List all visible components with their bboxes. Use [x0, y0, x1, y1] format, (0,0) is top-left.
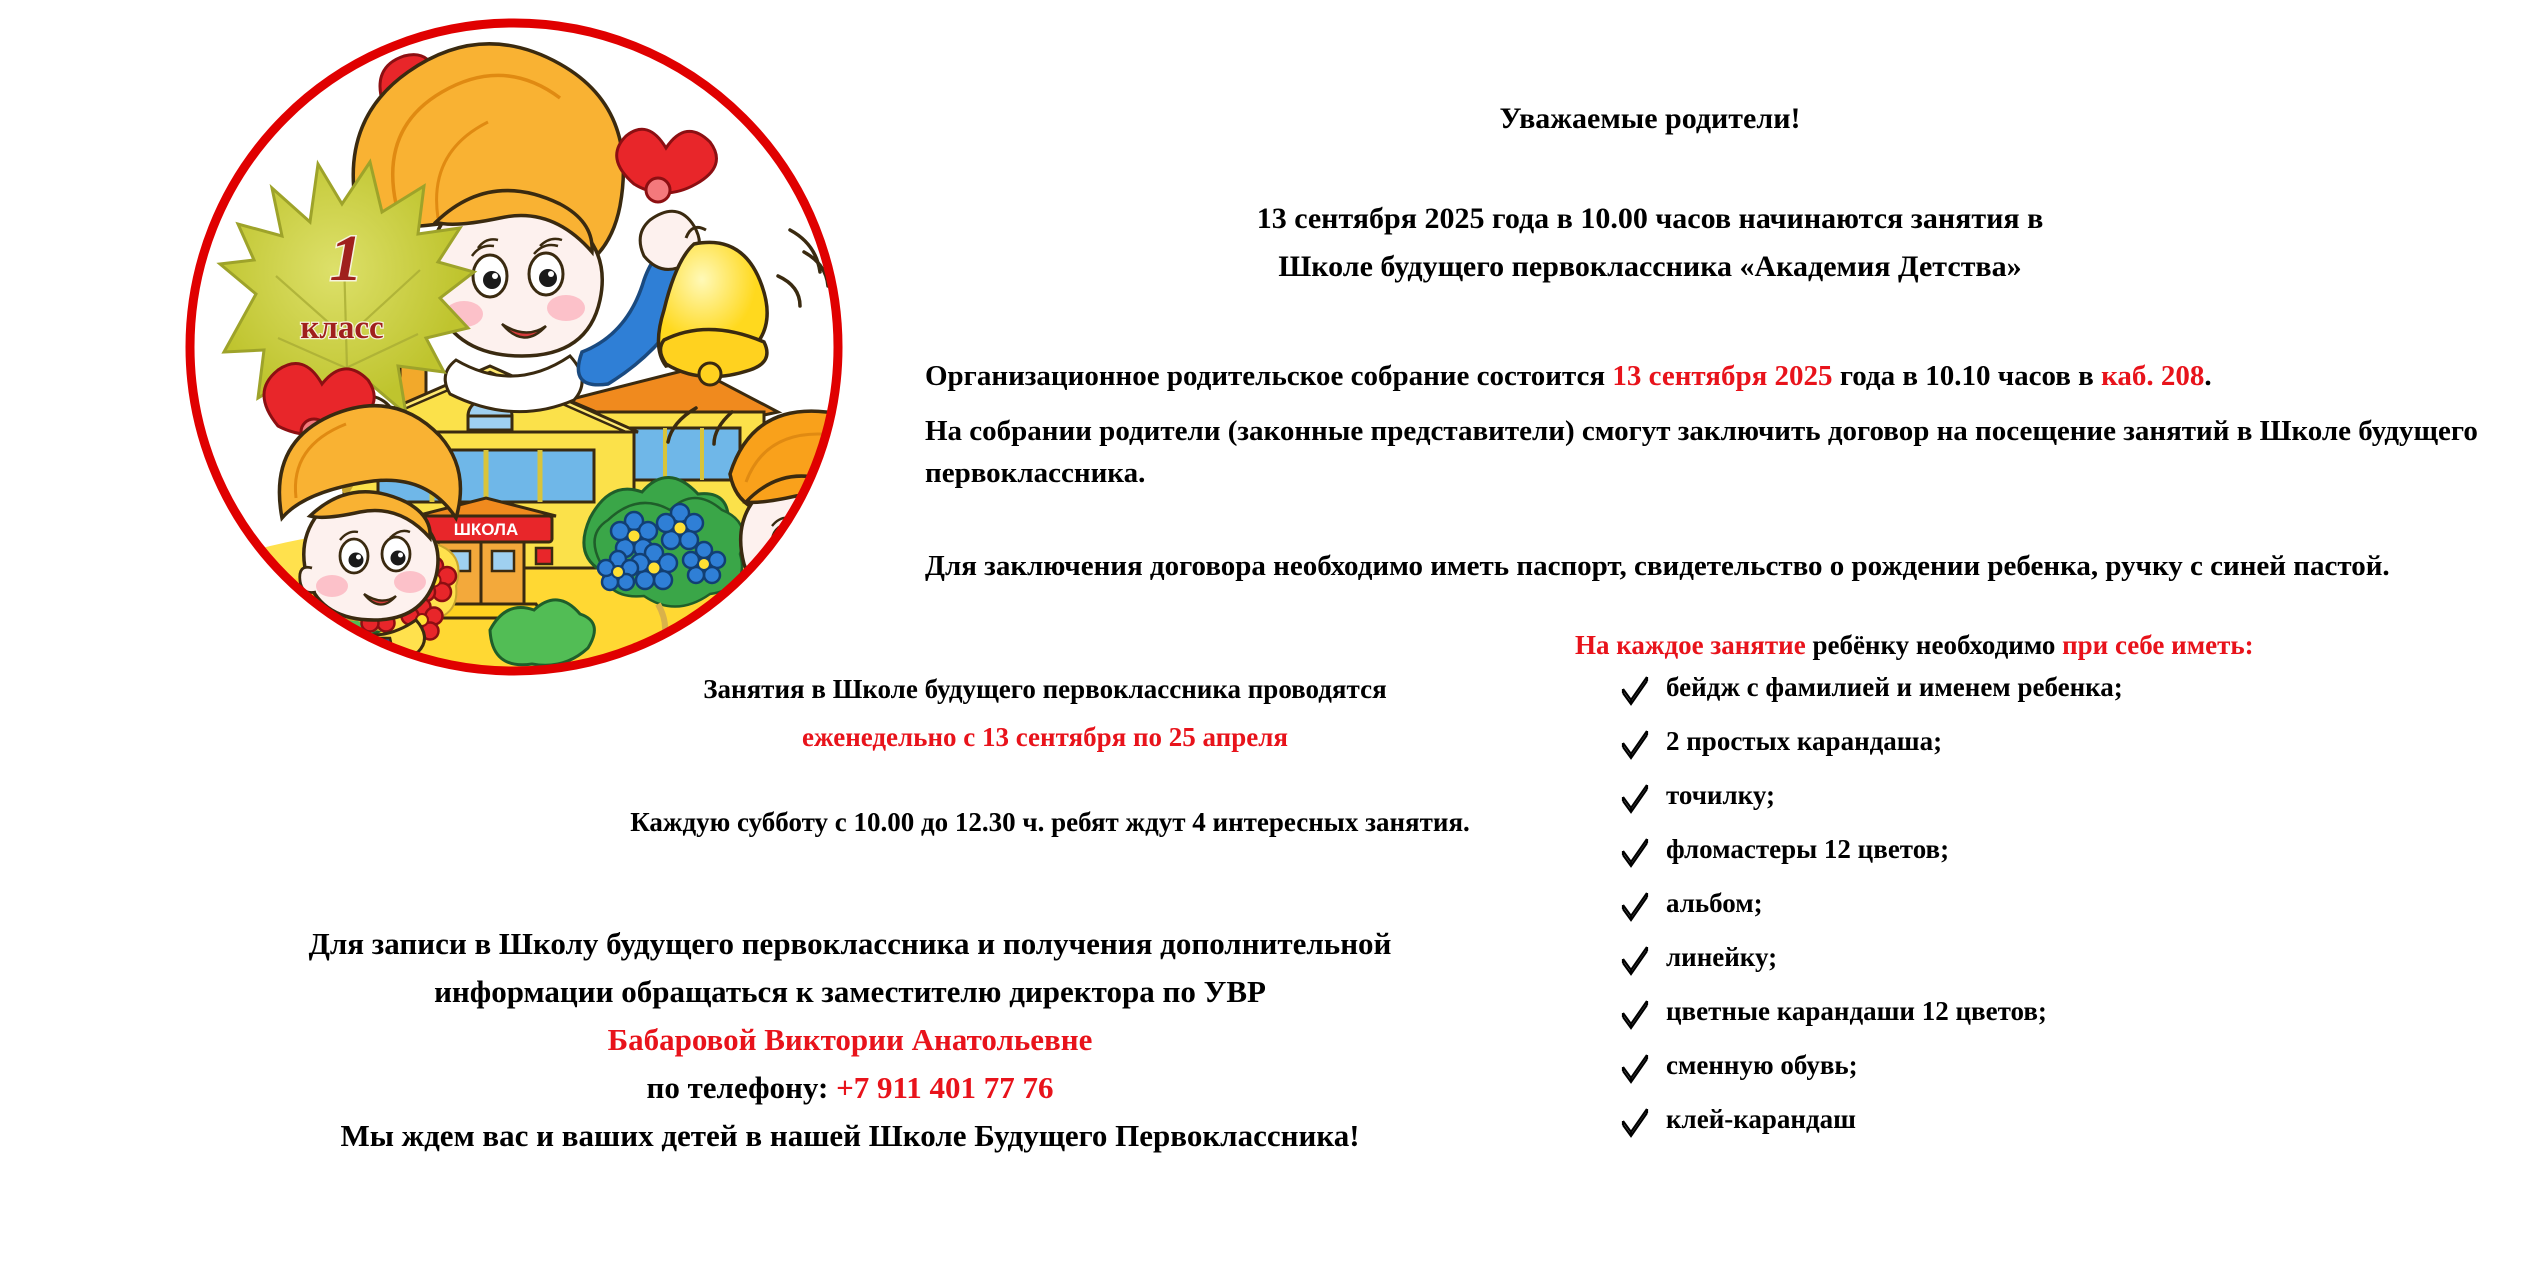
documents-paragraph: Для заключения договора необходимо иметь… [925, 545, 2515, 587]
checklist-heading: На каждое занятие ребёнку необходимо при… [1575, 630, 2395, 661]
check-mark-icon [1620, 998, 1666, 1032]
meeting-suffix-text: . [2204, 360, 2211, 392]
school-emblem-illustration: ШКОЛА [138, 8, 890, 686]
check-mark-icon [1620, 674, 1666, 708]
closing-line: Мы ждем вас и ваших детей в нашей Школе … [180, 1112, 1520, 1160]
check-mark-icon [1620, 944, 1666, 978]
check-mark-icon [1620, 1052, 1666, 1086]
check-mark-icon [1620, 782, 1666, 816]
list-item-label: линейку; [1666, 942, 1777, 973]
contact-block: Для записи в Школу будущего первоклассни… [180, 920, 1520, 1160]
start-date-line: 13 сентября 2025 года в 10.00 часов начи… [1230, 200, 2070, 238]
boy-with-blue-bouquet [730, 411, 890, 660]
supplies-checklist: бейдж с фамилией и именем ребенка; 2 про… [1620, 672, 2480, 1158]
checklist-head-red-2: при себе иметь: [2062, 630, 2254, 660]
greeting-heading: Уважаемые родители! [1280, 100, 2020, 138]
list-item: бейдж с фамилией и именем ребенка; [1620, 672, 2480, 726]
contact-line-1: Для записи в Школу будущего первоклассни… [180, 920, 1520, 968]
phone-label: по телефону: [646, 1070, 836, 1105]
list-item-label: сменную обувь; [1666, 1050, 1858, 1081]
leaf-label-text: класс [300, 310, 383, 346]
poster-page: ШКОЛА [0, 0, 2548, 1284]
check-mark-icon [1620, 836, 1666, 870]
list-item-label: клей-карандаш [1666, 1104, 1856, 1135]
list-item-label: точилку; [1666, 780, 1775, 811]
list-item-label: альбом; [1666, 888, 1763, 919]
list-item: сменную обувь; [1620, 1050, 2480, 1104]
meeting-room-text: каб. 208 [2101, 360, 2204, 392]
school-sign-text: ШКОЛА [454, 520, 518, 539]
list-item-label: цветные карандаши 12 цветов; [1666, 996, 2047, 1027]
checklist-head-red-1: На каждое занятие [1575, 630, 1806, 660]
check-mark-icon [1620, 728, 1666, 762]
checklist-head-black: ребёнку необходимо [1806, 630, 2062, 660]
contract-paragraph: На собрании родители (законные представи… [925, 410, 2515, 495]
list-item: клей-карандаш [1620, 1104, 2480, 1158]
list-item: линейку; [1620, 942, 2480, 996]
schedule-period-line: еженедельно с 13 сентября по 25 апреля [600, 720, 1490, 755]
meeting-prefix-text: Организационное родительское собрание со… [925, 360, 1612, 392]
meeting-middle-text: года в 10.10 часов в [1833, 360, 2102, 392]
list-item-label: фломастеры 12 цветов; [1666, 834, 1949, 865]
list-item: альбом; [1620, 888, 2480, 942]
contact-person-name: Бабаровой Виктории Анатольевне [180, 1016, 1520, 1064]
phone-number[interactable]: +7 911 401 77 76 [836, 1070, 1053, 1105]
list-item: цветные карандаши 12 цветов; [1620, 996, 2480, 1050]
list-item-label: 2 простых карандаша; [1666, 726, 1942, 757]
meeting-paragraph: Организационное родительское собрание со… [925, 355, 2515, 397]
contact-line-2: информации обращаться к заместителю дире… [180, 968, 1520, 1016]
list-item: точилку; [1620, 780, 2480, 834]
list-item: фломастеры 12 цветов; [1620, 834, 2480, 888]
leaf-number-text: 1 [330, 222, 363, 295]
contact-phone-row: по телефону: +7 911 401 77 76 [180, 1064, 1520, 1112]
list-item-label: бейдж с фамилией и именем ребенка; [1666, 672, 2123, 703]
check-mark-icon [1620, 890, 1666, 924]
schedule-saturday-line: Каждую субботу с 10.00 до 12.30 ч. ребят… [560, 805, 1540, 840]
schedule-line-1: Занятия в Школе будущего первоклассника … [600, 672, 1490, 707]
meeting-date-text: 13 сентября 2025 [1612, 360, 1832, 392]
school-name-line: Школе будущего первоклассника «Академия … [1230, 248, 2070, 286]
list-item: 2 простых карандаша; [1620, 726, 2480, 780]
check-mark-icon [1620, 1106, 1666, 1140]
